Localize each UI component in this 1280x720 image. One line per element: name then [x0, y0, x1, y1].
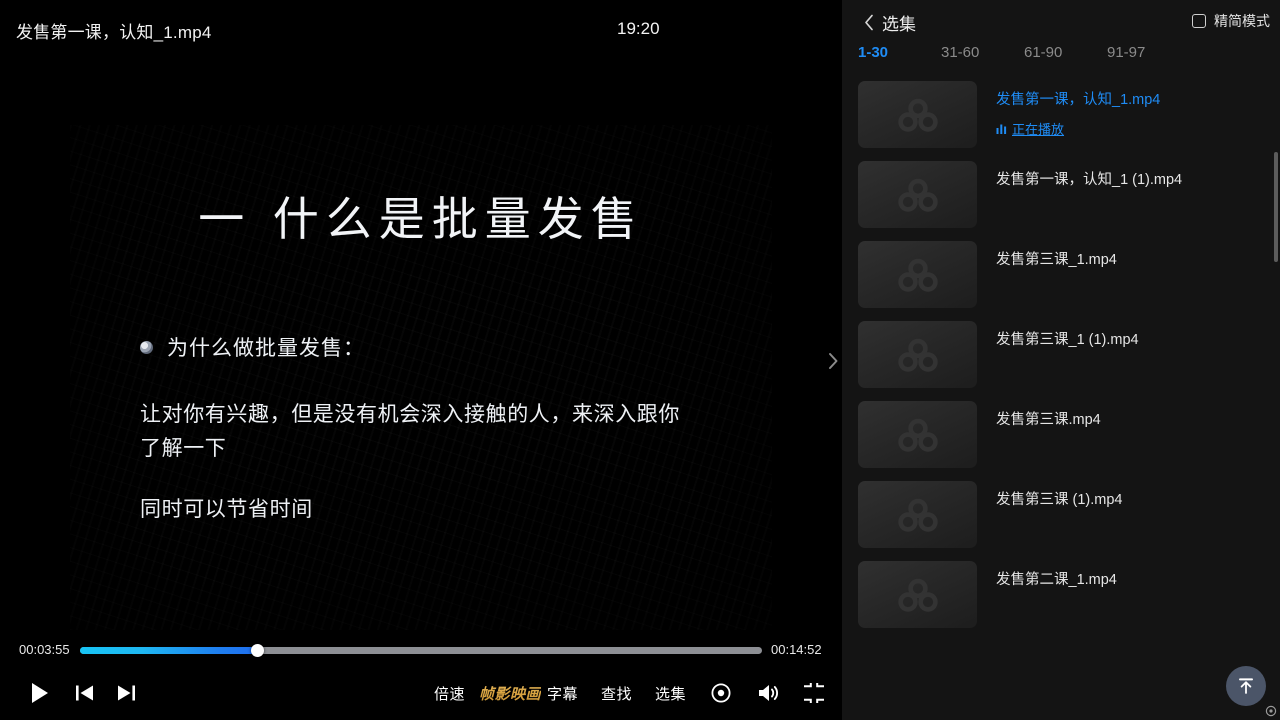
play-button[interactable]	[24, 666, 56, 720]
video-player-app: 发售第一课，认知_1.mp4 19:20 一 什么是批量发售 为什么做批量发售：…	[0, 0, 1280, 720]
slide-bullet-heading: 为什么做批量发售：	[167, 332, 365, 362]
list-item[interactable]: 发售第三课_1 (1).mp4	[842, 316, 1280, 396]
simple-mode-checkbox[interactable]	[1192, 14, 1206, 28]
progress-bar[interactable]	[80, 647, 762, 654]
item-info: 发售第二课_1.mp4	[996, 561, 1266, 589]
previous-icon	[75, 684, 95, 702]
item-info: 发售第一课，认知_1.mp4 正在播放	[996, 81, 1266, 138]
current-time: 00:03:55	[19, 642, 70, 657]
slide-paragraph-1: 让对你有兴趣，但是没有机会深入接触的人，来深入跟你了解一下	[140, 398, 700, 466]
cloud-trefoil-icon	[896, 256, 940, 294]
back-button[interactable]	[858, 10, 880, 34]
equalizer-icon	[996, 123, 1007, 134]
corner-settings-button[interactable]	[1264, 704, 1277, 717]
playlist-items[interactable]: 发售第一课，认知_1.mp4 正在播放	[842, 76, 1280, 720]
item-title[interactable]: 发售第三课.mp4	[996, 411, 1266, 429]
control-bar: 倍速 帧影映画 字幕 查找 SVIP 选集	[0, 666, 842, 720]
search-button[interactable]: 查找	[601, 666, 632, 720]
simple-mode-label: 精简模式	[1214, 11, 1270, 31]
cloud-trefoil-icon	[896, 96, 940, 134]
progress-fill	[80, 647, 257, 654]
thumbnail	[858, 81, 977, 148]
item-info: 发售第三课_1.mp4	[996, 241, 1266, 269]
total-time: 00:14:52	[771, 642, 822, 657]
list-item[interactable]: 发售第三课 (1).mp4	[842, 476, 1280, 556]
cloud-trefoil-icon	[896, 336, 940, 374]
now-playing-row: 正在播放	[996, 119, 1266, 138]
thumbnail	[858, 401, 977, 468]
cloud-trefoil-icon	[896, 576, 940, 614]
tab-61-90[interactable]: 61-90	[1024, 44, 1107, 74]
expand-panel-button[interactable]	[823, 340, 843, 382]
slide-bullet-row: 为什么做批量发售：	[140, 332, 732, 362]
item-title[interactable]: 发售第一课，认知_1.mp4	[996, 91, 1266, 109]
sidebar-header: 选集 精简模式	[842, 0, 1280, 44]
player-file-title: 发售第一课，认知_1.mp4	[16, 18, 212, 43]
player-panel: 发售第一课，认知_1.mp4 19:20 一 什么是批量发售 为什么做批量发售：…	[0, 0, 842, 720]
progress-row: 00:03:55 00:14:52	[0, 640, 842, 662]
subtitle-button[interactable]: 字幕	[547, 666, 578, 720]
tab-91-97[interactable]: 91-97	[1107, 44, 1190, 74]
player-titlebar: 发售第一课，认知_1.mp4 19:20	[0, 0, 842, 60]
range-tabs: 1-30 31-60 61-90 91-97	[842, 44, 1280, 74]
item-title[interactable]: 发售第三课 (1).mp4	[996, 491, 1266, 509]
item-title[interactable]: 发售第三课_1 (1).mp4	[996, 331, 1266, 349]
thumbnail	[858, 561, 977, 628]
cloud-trefoil-icon	[896, 176, 940, 214]
slide-paragraph-2: 同时可以节省时间	[140, 493, 732, 523]
bullet-point-icon	[140, 341, 153, 354]
item-info: 发售第三课 (1).mp4	[996, 481, 1266, 509]
sidebar-title: 选集	[882, 10, 916, 35]
video-stage[interactable]: 一 什么是批量发售 为什么做批量发售： 让对你有兴趣，但是没有机会深入接触的人，…	[70, 125, 772, 630]
item-title[interactable]: 发售第二课_1.mp4	[996, 571, 1266, 589]
slide-body: 为什么做批量发售： 让对你有兴趣，但是没有机会深入接触的人，来深入跟你了解一下 …	[140, 332, 732, 523]
next-button[interactable]	[110, 666, 142, 720]
scroll-to-top-button[interactable]	[1226, 666, 1266, 706]
settings-icon	[1265, 705, 1277, 717]
list-item[interactable]: 发售第二课_1.mp4	[842, 556, 1280, 636]
chevron-left-icon	[864, 14, 874, 31]
simple-mode-toggle[interactable]: 精简模式	[1192, 11, 1270, 31]
cloud-trefoil-icon	[896, 496, 940, 534]
list-item[interactable]: 发售第一课，认知_1 (1).mp4	[842, 156, 1280, 236]
playlist-sidebar: 选集 精简模式 1-30 31-60 61-90 91-97	[842, 0, 1280, 720]
previous-button[interactable]	[69, 666, 101, 720]
item-title[interactable]: 发售第三课_1.mp4	[996, 251, 1266, 269]
cast-button[interactable]	[706, 666, 736, 720]
play-icon	[30, 682, 50, 704]
thumbnail	[858, 161, 977, 228]
now-playing-label: 正在播放	[1012, 119, 1064, 138]
scroll-to-top-icon	[1236, 676, 1256, 696]
thumbnail	[858, 241, 977, 308]
thumbnail	[858, 321, 977, 388]
chevron-right-icon	[828, 352, 839, 370]
exit-fullscreen-icon	[804, 683, 824, 703]
playlist-button[interactable]: 选集	[655, 666, 686, 720]
tab-31-60[interactable]: 31-60	[941, 44, 1024, 74]
playback-speed-button[interactable]: 倍速	[434, 666, 465, 720]
sidebar-scrollbar[interactable]	[1274, 152, 1278, 262]
enhance-quality-button[interactable]: 帧影映画	[479, 666, 541, 720]
item-info: 发售第一课，认知_1 (1).mp4	[996, 161, 1266, 189]
volume-icon	[757, 682, 781, 704]
item-title[interactable]: 发售第一课，认知_1 (1).mp4	[996, 171, 1266, 189]
list-item[interactable]: 发售第一课，认知_1.mp4 正在播放	[842, 76, 1280, 156]
progress-handle[interactable]	[251, 644, 264, 657]
item-info: 发售第三课.mp4	[996, 401, 1266, 429]
target-icon	[710, 682, 732, 704]
list-item[interactable]: 发售第三课.mp4	[842, 396, 1280, 476]
tab-1-30[interactable]: 1-30	[858, 44, 941, 74]
thumbnail	[858, 481, 977, 548]
player-clock: 19:20	[617, 19, 660, 39]
slide-title: 一 什么是批量发售	[70, 183, 772, 249]
next-icon	[116, 684, 136, 702]
exit-fullscreen-button[interactable]	[799, 666, 829, 720]
list-item[interactable]: 发售第三课_1.mp4	[842, 236, 1280, 316]
cloud-trefoil-icon	[896, 416, 940, 454]
item-info: 发售第三课_1 (1).mp4	[996, 321, 1266, 349]
volume-button[interactable]	[753, 666, 785, 720]
